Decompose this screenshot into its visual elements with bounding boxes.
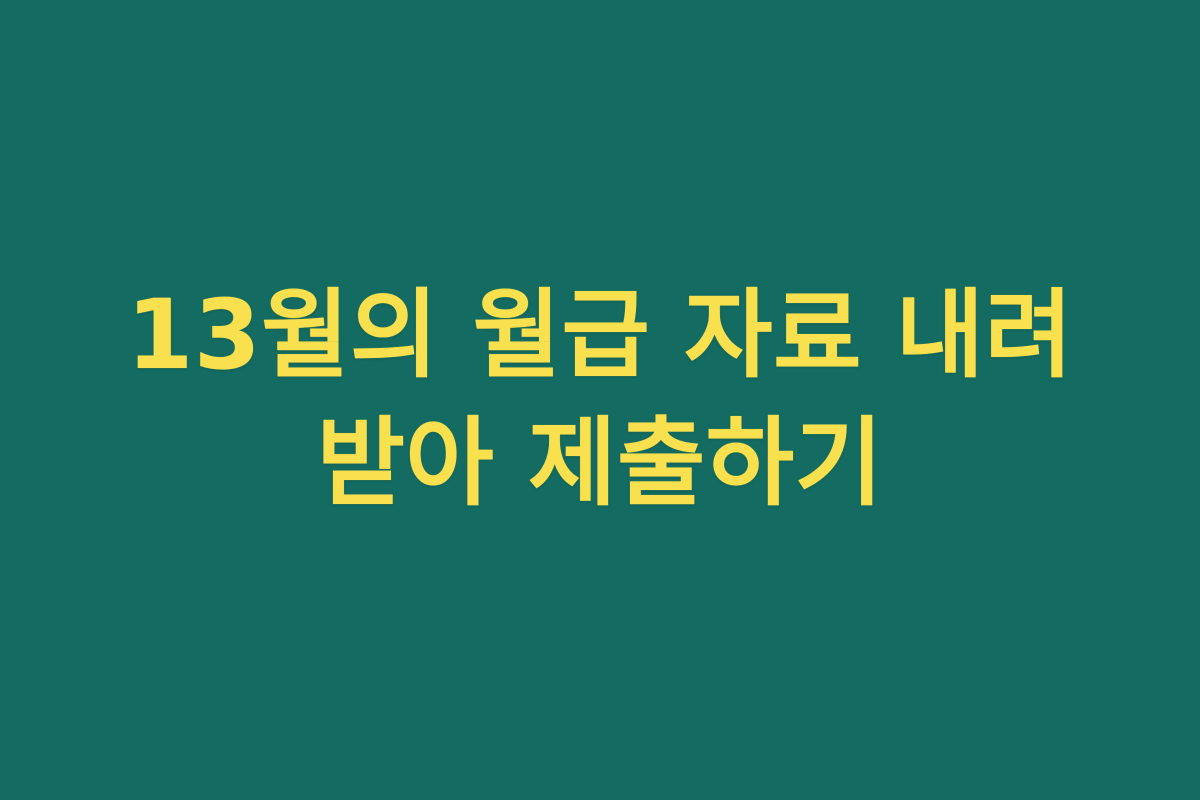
page-title-line-1: 13월의 월급 자료 내려 <box>0 272 1200 400</box>
title-banner: 13월의 월급 자료 내려 받아 제출하기 <box>0 0 1200 800</box>
page-title-line-2: 받아 제출하기 <box>0 400 1200 528</box>
page-title: 13월의 월급 자료 내려 받아 제출하기 <box>0 272 1200 527</box>
